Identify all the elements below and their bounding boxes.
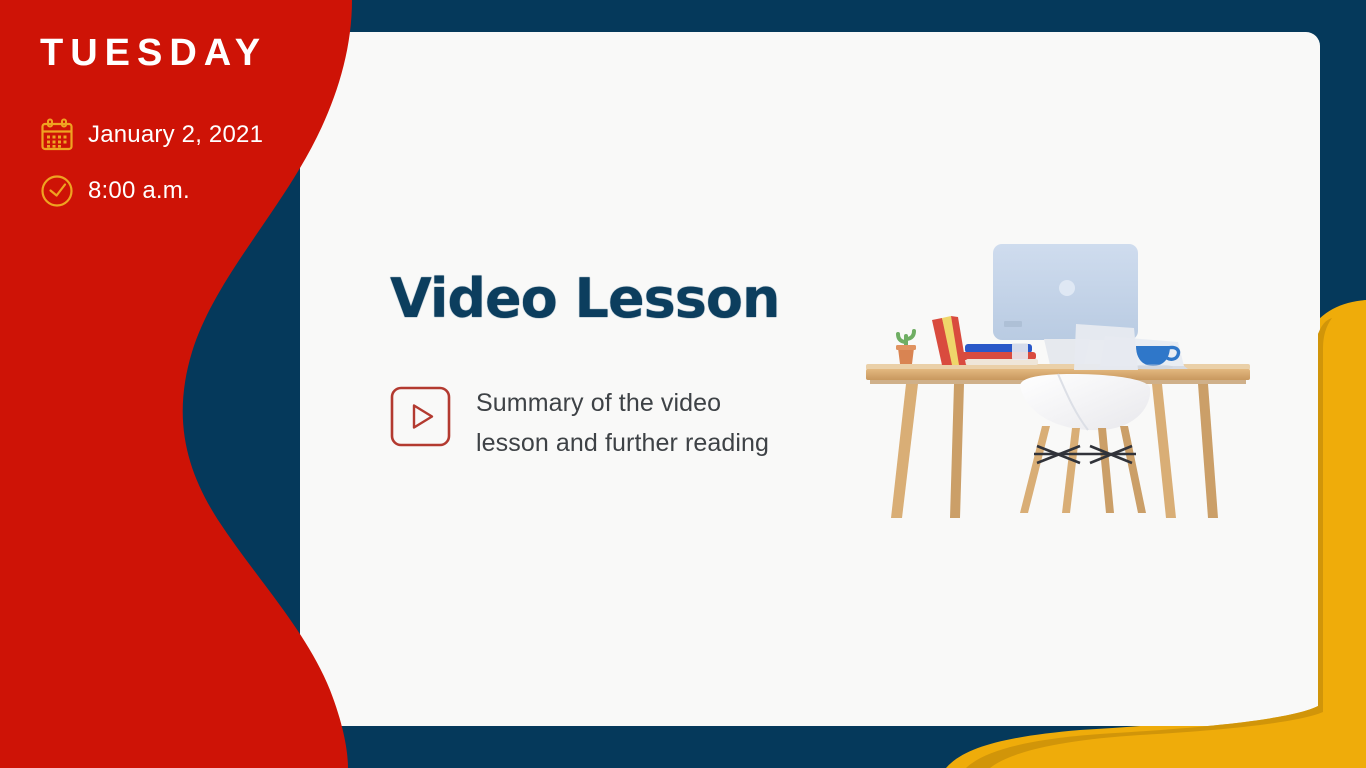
time-row: 8:00 a.m.	[40, 174, 330, 208]
calendar-icon	[40, 118, 74, 152]
slide-canvas: TUESDAY	[0, 0, 1366, 768]
stacked-books	[961, 343, 1038, 365]
standing-books	[932, 316, 966, 365]
cactus-plant	[896, 331, 916, 364]
summary-text: Summary of the video lesson and further …	[476, 384, 769, 463]
clock-icon	[40, 174, 74, 208]
day-title: TUESDAY	[40, 34, 330, 72]
summary-block: Summary of the video lesson and further …	[390, 384, 860, 463]
date-row: January 2, 2021	[40, 118, 330, 152]
main-panel: Video Lesson Summary of the video lesson…	[390, 272, 860, 463]
time-text: 8:00 a.m.	[88, 178, 190, 204]
summary-line-1: Summary of the video	[476, 389, 721, 417]
date-text: January 2, 2021	[88, 122, 263, 148]
office-chair	[1020, 324, 1150, 513]
summary-line-2: lesson and further reading	[476, 429, 769, 457]
desk-workspace-illustration	[862, 238, 1254, 523]
play-button-icon	[390, 386, 451, 447]
sidebar: TUESDAY	[40, 34, 330, 230]
page-title: Video Lesson	[390, 272, 860, 326]
